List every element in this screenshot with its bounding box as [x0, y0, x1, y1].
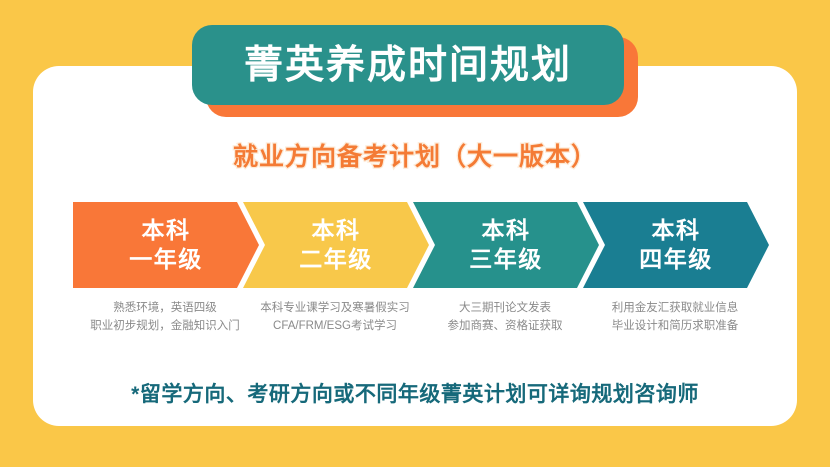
footer-note: *留学方向、考研方向或不同年级菁英计划可详询规划咨询师 [0, 378, 830, 408]
stage-freshman-label-line1: 本科 [142, 216, 191, 245]
stage-freshman-chevron[interactable]: 本科一年级 [73, 202, 259, 288]
stage-senior-desc-line2: 毕业设计和简历求职准备 [570, 318, 780, 336]
stage-junior-label-line1: 本科 [482, 216, 531, 245]
stage-senior-description: 利用金友汇获取就业信息毕业设计和简历求职准备 [570, 300, 780, 336]
stage-senior-desc-line1: 利用金友汇获取就业信息 [570, 300, 780, 318]
stage-junior-chevron[interactable]: 本科三年级 [413, 202, 599, 288]
timeline-chevrons: 本科一年级本科二年级本科三年级本科四年级 [73, 202, 757, 288]
stage-sophomore-label-line1: 本科 [312, 216, 361, 245]
page-subtitle: 就业方向备考计划（大一版本） [0, 137, 830, 173]
title-banner: 菁英养成时间规划 [192, 25, 638, 117]
stage-sophomore-label-line2: 二年级 [299, 245, 373, 274]
page-title: 菁英养成时间规划 [244, 46, 572, 85]
stage-freshman-label-line2: 一年级 [129, 245, 203, 274]
stage-senior-label-line1: 本科 [652, 216, 701, 245]
timeline-descriptions: 熟悉环境，英语四级职业初步规划，金融知识入门本科专业课学习及寒暑假实习CFA/F… [60, 300, 770, 342]
title-banner-surface: 菁英养成时间规划 [192, 25, 624, 105]
stage-senior-label-line2: 四年级 [639, 245, 713, 274]
poster-root: 菁英养成时间规划 就业方向备考计划（大一版本） 本科一年级本科二年级本科三年级本… [0, 0, 830, 467]
stage-junior-label-line2: 三年级 [469, 245, 543, 274]
stage-sophomore-chevron[interactable]: 本科二年级 [243, 202, 429, 288]
stage-senior-chevron[interactable]: 本科四年级 [583, 202, 769, 288]
